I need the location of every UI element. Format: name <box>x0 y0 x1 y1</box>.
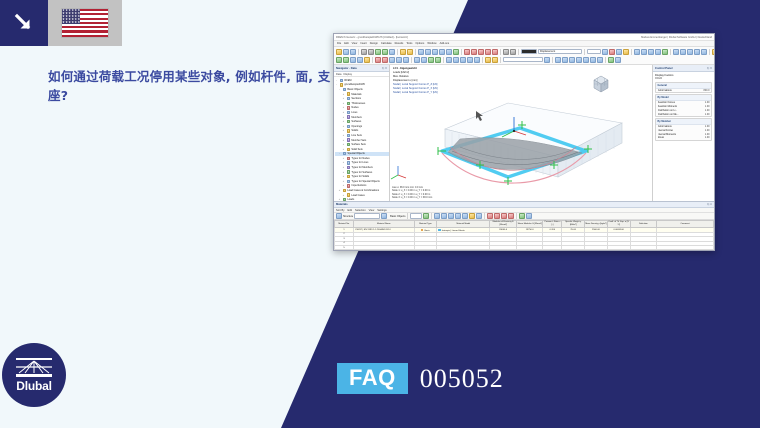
export-icon[interactable] <box>615 57 621 63</box>
control-row-value[interactable]: 1.00 <box>705 133 710 136</box>
tab-display[interactable]: Display <box>343 73 352 76</box>
open-icon[interactable] <box>343 49 349 55</box>
deformation-icon[interactable] <box>435 57 441 63</box>
table-cell[interactable] <box>543 250 562 251</box>
menu-item-calculate[interactable]: Calculate <box>381 42 392 45</box>
navigator-panel[interactable]: Navigator - Data ⎘ ✕ Data Display -RFEM-… <box>334 65 390 201</box>
tree-expander-icon[interactable]: + <box>342 120 345 123</box>
mesh-icon[interactable] <box>414 57 420 63</box>
tree-expander-icon[interactable]: + <box>342 139 345 142</box>
control-row-value[interactable]: 1.00 <box>705 109 710 112</box>
table-grid-icon[interactable] <box>434 213 440 219</box>
structure-tree-icon[interactable] <box>336 213 342 219</box>
tree-item-label: Thicknesses <box>351 102 365 105</box>
table-row[interactable]: 6 <box>335 250 714 251</box>
table-menu-selection[interactable]: Selection <box>355 209 366 212</box>
tree-expander-icon[interactable]: - <box>338 88 341 91</box>
undo-icon[interactable] <box>400 49 406 55</box>
table-paste-icon[interactable] <box>462 213 468 219</box>
faq-footer: FAQ 005052 <box>337 363 504 394</box>
tree-item-icon <box>347 193 350 196</box>
table-column-header[interactable]: Definition <box>630 221 657 228</box>
tree-item-icon <box>347 161 350 164</box>
guide-icon[interactable] <box>701 49 707 55</box>
chart-icon[interactable] <box>648 49 654 55</box>
tree-item-label: Member Sets <box>351 139 366 142</box>
tree-item-icon <box>347 148 350 151</box>
tree-expander-icon[interactable]: + <box>342 171 345 174</box>
transparent-icon[interactable] <box>446 49 452 55</box>
model-geometry <box>390 95 652 201</box>
apply-filter-icon[interactable] <box>423 213 429 219</box>
angle-icon[interactable] <box>510 49 516 55</box>
tree-item-label: Solid Sets <box>351 148 362 151</box>
tree-item-label: Types for Surfaces <box>351 171 372 174</box>
control-row-value[interactable]: 800.0 <box>704 89 710 92</box>
bridge-truss-icon <box>16 358 52 377</box>
language-flag-badge[interactable]: ★★★★★★ ★★★★★★ ★★★★★★ ★★★★★★ ★★★★★★ <box>48 0 122 46</box>
tree-item-icon <box>347 102 350 105</box>
table-export-excel-icon[interactable] <box>469 213 475 219</box>
tree-item-icon <box>347 143 350 146</box>
table-icon[interactable] <box>634 49 640 55</box>
control-row[interactable]: Deformations800.0 <box>656 89 711 93</box>
table-first-icon[interactable] <box>487 213 493 219</box>
tree-item-icon <box>340 83 343 86</box>
table-column-header[interactable]: Mass Density ρ [kg/m³] <box>585 221 608 228</box>
tree-item-label: Surfaces <box>351 120 361 123</box>
tree-item-icon <box>347 97 350 100</box>
tree-item-icon <box>347 166 350 169</box>
control-row-value[interactable]: 1.00 <box>705 129 710 132</box>
info-icon[interactable] <box>662 49 668 55</box>
render-icon[interactable] <box>425 49 431 55</box>
faq-badge: FAQ <box>337 363 408 394</box>
tree-item-label: Loads <box>347 198 354 201</box>
control-row-label: Distribution on Me... <box>658 113 679 116</box>
structural-model-3d[interactable] <box>390 95 652 201</box>
tree-item-label: Line Sets <box>351 134 361 137</box>
menu-item-options[interactable]: Options <box>415 42 424 45</box>
line-icon[interactable] <box>343 57 349 63</box>
report-icon[interactable] <box>608 57 614 63</box>
tree-item-icon <box>347 157 350 160</box>
menu-item-file[interactable]: File <box>337 42 341 45</box>
tree-item-icon <box>347 125 350 128</box>
table-print-icon[interactable] <box>476 213 482 219</box>
tree-item-label: Basic Objects <box>347 88 362 91</box>
tree-item-label: Types for Special Objects <box>351 180 379 183</box>
tree-item-icon <box>347 111 350 114</box>
support-icon[interactable] <box>375 57 381 63</box>
load-icon[interactable] <box>389 57 395 63</box>
app-title: RFEM 6 Generic - grundbeispiel0105.rf6 [… <box>336 36 408 39</box>
faq-number: 005052 <box>420 364 504 394</box>
table-filter-value: Basic Objects <box>390 215 405 218</box>
tree-item-label: Types for Nodes <box>351 157 369 160</box>
table-column-header[interactable]: Material Type <box>414 221 437 228</box>
brand-name: Dlubal <box>16 379 51 393</box>
page-title: 如何通过荷载工况停用某些对象, 例如杆件, 面, 支座? <box>48 68 338 106</box>
zoom-window-icon[interactable] <box>485 49 491 55</box>
isolines-icon[interactable] <box>616 49 622 55</box>
help-icon[interactable] <box>712 49 715 55</box>
tree-expander-icon[interactable]: + <box>342 111 345 114</box>
model-viewport[interactable]: LC1 - EigengewichtLoads [kN/m²]Max. Rela… <box>390 65 652 201</box>
tree-expander-icon[interactable]: + <box>342 184 345 187</box>
tree-item-icon <box>347 106 350 109</box>
filter-icon[interactable] <box>623 49 629 55</box>
table-column-header[interactable]: Specific Weight γ [kN/m³] <box>562 221 585 228</box>
tree-item-label: Openings <box>351 125 362 128</box>
table-cell[interactable] <box>630 250 657 251</box>
control-row-value[interactable]: 1.00 <box>705 101 710 104</box>
tree-expander-icon[interactable]: - <box>338 152 341 155</box>
table-cell[interactable]: 6 <box>335 250 354 251</box>
text-icon[interactable] <box>492 57 498 63</box>
tree-item-icon <box>347 175 350 178</box>
menu-item-tools[interactable]: Tools <box>406 42 412 45</box>
table-column-header[interactable]: Comment <box>657 221 714 228</box>
view-dropdown-icon[interactable] <box>544 57 550 63</box>
control-panel-groups[interactable]: GeneralDeformations800.0By ModelReaction… <box>653 81 714 142</box>
control-row-value[interactable]: 1.00 <box>705 105 710 108</box>
tree-item-label: grundbeispiel0105 <box>344 83 364 86</box>
control-panel-title: Control Panel <box>655 67 672 70</box>
control-row[interactable]: Stress1.00 <box>656 136 711 140</box>
control-group-general: GeneralDeformations800.0 <box>655 82 712 93</box>
tree-expander-icon[interactable]: + <box>342 148 345 151</box>
tree-item-icon <box>347 180 350 183</box>
snap-icon[interactable] <box>673 49 679 55</box>
tree-item-icon <box>347 184 350 187</box>
table-delete-row-icon[interactable] <box>448 213 454 219</box>
table-cell[interactable] <box>437 250 490 251</box>
tree-item-label: Members <box>351 116 361 119</box>
menu-item-addons[interactable]: Add-ons <box>440 42 450 45</box>
print-icon[interactable] <box>361 49 367 55</box>
member-icon[interactable] <box>350 57 356 63</box>
tree-item-icon <box>343 189 346 192</box>
top-view-icon[interactable] <box>590 57 596 63</box>
materials-table-panel[interactable]: Materials ⎘ ✕ Sort By Edit Selection Vie… <box>334 201 714 251</box>
menu-item-design[interactable]: Design <box>370 42 378 45</box>
viewport-result-labels: LC1 - EigengewichtLoads [kN/m²]Max. Rela… <box>393 67 438 95</box>
tree-expander-icon[interactable]: + <box>342 166 345 169</box>
materials-table-title: Materials <box>336 203 348 206</box>
tree-expander-icon[interactable]: + <box>342 116 345 119</box>
materials-table-grid[interactable]: Material No.Material NameMaterial TypeMa… <box>334 220 714 251</box>
tree-expander-icon[interactable]: + <box>342 161 345 164</box>
app-titlebar: RFEM 6 Generic - grundbeispiel0105.rf6 [… <box>334 34 714 41</box>
control-row[interactable]: Distribution on Me...1.00 <box>656 112 711 116</box>
rotate-icon[interactable] <box>453 57 459 63</box>
tree-item-icon <box>347 115 350 118</box>
node-icon[interactable] <box>336 57 342 63</box>
app-account-label: Markus Emmenberger | Dlubal Software Gmb… <box>641 36 712 39</box>
table-cell[interactable] <box>353 250 414 251</box>
control-row-label: Internal Forces <box>658 129 674 132</box>
table-filter-field[interactable] <box>354 213 380 219</box>
toolbar-row-1[interactable]: Displacement <box>336 48 712 55</box>
copy-icon[interactable] <box>382 49 388 55</box>
control-row-label: Deformations <box>658 89 672 92</box>
wireframe-icon[interactable] <box>432 49 438 55</box>
cut-icon[interactable] <box>375 49 381 55</box>
tree-item-icon <box>343 152 346 155</box>
tree-expander-icon[interactable]: + <box>342 125 345 128</box>
layer-icon[interactable] <box>555 57 561 63</box>
calculate-icon[interactable] <box>428 57 434 63</box>
flag-canton: ★★★★★★ ★★★★★★ ★★★★★★ ★★★★★★ ★★★★★★ <box>62 9 80 24</box>
control-row-label: Internal Moments <box>658 133 676 136</box>
tree-item-icon <box>347 138 350 141</box>
table-column-header[interactable]: Material No. <box>335 221 354 228</box>
grid-toggle-icon[interactable] <box>694 49 700 55</box>
tree-expander-icon[interactable]: + <box>342 129 345 132</box>
save-icon[interactable] <box>350 49 356 55</box>
control-row-label: Deformations <box>658 125 672 128</box>
tree-item-label: Solids <box>351 129 358 132</box>
tree-expander-icon[interactable]: + <box>342 106 345 109</box>
mirror-icon[interactable] <box>460 57 466 63</box>
us-flag-icon: ★★★★★★ ★★★★★★ ★★★★★★ ★★★★★★ ★★★★★★ <box>61 8 109 38</box>
tree-expander-icon[interactable]: + <box>338 189 341 192</box>
tree-item-icon <box>347 129 350 132</box>
tree-item-icon <box>340 79 343 82</box>
legend-icon[interactable] <box>655 49 661 55</box>
control-row-value[interactable]: 1.00 <box>705 136 710 139</box>
tree-expander-icon[interactable]: + <box>342 93 345 96</box>
materials-table-toolbar[interactable]: Structure Basic Objects <box>334 213 714 220</box>
tree-item-label: Sections <box>351 97 361 100</box>
scale-field[interactable] <box>587 49 601 55</box>
diagram-icon[interactable] <box>641 49 647 55</box>
table-cell[interactable] <box>562 250 585 251</box>
navigator-header: Navigator - Data ⎘ ✕ <box>334 65 389 72</box>
combination-icon[interactable] <box>403 57 409 63</box>
control-group-by-model: By ModelReaction Forces1.00Reaction Mome… <box>655 94 712 117</box>
tree-item-label: Surface Sets <box>351 143 365 146</box>
table-copy-icon[interactable] <box>455 213 461 219</box>
new-icon[interactable] <box>336 49 342 55</box>
result-combo-value: Displacement <box>540 50 555 53</box>
table-column-header[interactable]: Material Name <box>353 221 414 228</box>
front-view-icon[interactable] <box>583 57 589 63</box>
shaded-icon[interactable] <box>439 49 445 55</box>
redo-icon[interactable] <box>407 49 413 55</box>
table-cell[interactable] <box>585 250 608 251</box>
tree-item-label: Imperfections <box>351 184 366 187</box>
zoom-all-icon[interactable] <box>478 49 484 55</box>
array-icon[interactable] <box>474 57 480 63</box>
navigator-title: Navigator - Data <box>336 67 357 70</box>
app-toolbar[interactable]: Displacement <box>334 47 714 65</box>
tree-expander-icon[interactable]: + <box>342 97 345 100</box>
app-body: Navigator - Data ⎘ ✕ Data Display -RFEM-… <box>334 65 714 201</box>
arrow-down-right-badge <box>0 0 48 46</box>
tree-item-label: Types for Solids <box>351 175 369 178</box>
tree-item-label: Types for Lines <box>351 161 368 164</box>
tree-item-icon <box>347 92 350 95</box>
tree-item-loads[interactable]: +Loads <box>335 197 389 201</box>
control-panel-close-icon[interactable]: ⎘ ✕ <box>707 67 712 70</box>
dimension-icon[interactable] <box>485 57 491 63</box>
menu-item-edit[interactable]: Edit <box>344 42 348 45</box>
zoom-in-icon[interactable] <box>464 49 470 55</box>
ortho-icon[interactable] <box>680 49 686 55</box>
tree-expander-icon[interactable]: + <box>342 180 345 183</box>
chevron-down-icon[interactable] <box>602 49 608 55</box>
table-menu-view[interactable]: View <box>369 209 375 212</box>
control-row-value[interactable]: 1.00 <box>705 113 710 116</box>
materials-table-body[interactable]: 1C30/37 | EN 1992-1-1:2004/A1:2014BasicI… <box>335 228 714 251</box>
tree-item-label: Load Cases & Combinations <box>347 189 379 192</box>
control-panel[interactable]: Control Panel ⎘ ✕ Display Factors RFEM G… <box>652 65 714 201</box>
hinge-icon[interactable] <box>382 57 388 63</box>
table-next-icon[interactable] <box>501 213 507 219</box>
tree-item-label: Nodes <box>351 106 358 109</box>
zoom-out-icon[interactable] <box>471 49 477 55</box>
menu-item-window[interactable]: Window <box>427 42 436 45</box>
tree-item-icon <box>347 120 350 123</box>
tree-item-label: Lines <box>351 111 357 114</box>
rfem-application-screenshot: RFEM 6 Generic - grundbeispiel0105.rf6 [… <box>333 33 715 251</box>
view-combo-field[interactable] <box>503 57 543 63</box>
tree-item-icon <box>343 88 346 91</box>
table-help-icon[interactable] <box>526 213 532 219</box>
clip-icon[interactable] <box>569 57 575 63</box>
tree-expander-icon[interactable]: + <box>342 175 345 178</box>
menu-item-insert[interactable]: Insert <box>360 42 367 45</box>
table-cell[interactable] <box>490 250 517 251</box>
table-column-header[interactable]: Poisson's Ratio ν [-] <box>543 221 562 228</box>
table-menu-sort-by[interactable]: Sort By <box>336 209 345 212</box>
section-icon[interactable] <box>453 49 459 55</box>
table-column-header[interactable]: Shear Modulus G [N/mm²] <box>516 221 543 228</box>
tree-item-icon <box>343 198 346 201</box>
panel-pin-icon[interactable]: ⎘ ✕ <box>382 67 387 70</box>
materials-table-close-icon[interactable]: ⎘ ✕ <box>707 203 712 206</box>
table-prev-icon[interactable] <box>494 213 500 219</box>
table-last-icon[interactable] <box>508 213 514 219</box>
table-column-header[interactable]: Modulus of Elasticity E [N/mm²] <box>490 221 517 228</box>
table-cell[interactable] <box>414 250 437 251</box>
tree-expander-icon[interactable]: + <box>342 102 345 105</box>
control-row-value[interactable]: 1.00 <box>705 125 710 128</box>
tree-expander-icon[interactable]: + <box>342 157 345 160</box>
control-row-label: Distribution on Li... <box>658 109 678 112</box>
solid-icon[interactable] <box>364 57 370 63</box>
results-on-icon[interactable] <box>609 49 615 55</box>
viewport-readout: max u: 38.0 mm min: 0.0 mmNode 1: u_X = … <box>392 186 432 199</box>
table-settings-icon[interactable] <box>519 213 525 219</box>
toolbar-row-2[interactable] <box>336 56 712 63</box>
table-menu-settings[interactable]: Settings <box>377 209 386 212</box>
table-column-header[interactable]: Material Model <box>437 221 490 228</box>
scale-icon[interactable] <box>467 57 473 63</box>
paste-icon[interactable] <box>389 49 395 55</box>
table-cell[interactable] <box>657 250 714 251</box>
dlubal-logo: Dlubal <box>2 343 66 407</box>
move-icon[interactable] <box>446 57 452 63</box>
table-menu-edit[interactable]: Edit <box>348 209 352 212</box>
menu-item-results[interactable]: Results <box>395 42 404 45</box>
tree-item-label: Load Cases <box>351 194 364 197</box>
isometric-view-icon[interactable] <box>576 57 582 63</box>
pan-icon[interactable] <box>492 49 498 55</box>
tree-expander-icon[interactable]: + <box>342 194 345 197</box>
materials-table-header-row: Material No.Material NameMaterial TypeMa… <box>335 221 714 228</box>
control-row-label: Reaction Moments <box>658 105 678 108</box>
tree-item-icon <box>347 170 350 173</box>
tree-item-label: Special Objects <box>347 152 364 155</box>
control-row-label: Stress <box>658 136 665 139</box>
tree-item-label: RFEM <box>344 79 351 82</box>
viewport-readout-line: Node 3: u_X = 0.00 m u_Y = 38.0 mm <box>392 196 432 199</box>
row-jump-field[interactable] <box>410 213 422 219</box>
navigation-cube-icon[interactable] <box>590 73 612 95</box>
table-column-header[interactable]: Coeff. of Th. Exp. α [1/°C] <box>607 221 630 228</box>
measure-icon[interactable] <box>503 49 509 55</box>
print-preview-icon[interactable] <box>368 49 374 55</box>
tree-expander-icon[interactable]: + <box>338 198 341 201</box>
arrow-down-right-icon <box>13 12 35 34</box>
control-panel-header: Control Panel ⎘ ✕ <box>653 65 714 72</box>
tree-item-label: Materials <box>351 93 361 96</box>
control-row-label: Reaction Forces <box>658 101 675 104</box>
faq-slide: ★★★★★★ ★★★★★★ ★★★★★★ ★★★★★★ ★★★★★★ 如何通过荷… <box>0 0 760 428</box>
load-case-icon[interactable] <box>396 57 402 63</box>
visibility-icon[interactable] <box>562 57 568 63</box>
tree-expander-icon[interactable]: + <box>342 143 345 146</box>
fe-mesh-icon[interactable] <box>421 57 427 63</box>
filter-dropdown-icon[interactable] <box>381 213 387 219</box>
tree-item-icon <box>347 134 350 137</box>
control-group-by-member: By MemberDeformations1.00Internal Forces… <box>655 118 712 141</box>
table-cell[interactable] <box>516 250 543 251</box>
materials-table[interactable]: Material No.Material NameMaterial TypeMa… <box>334 220 714 251</box>
navigator-tree[interactable]: -RFEM-grundbeispiel0105-Basic Objects+Ma… <box>334 77 389 201</box>
color-preview-field[interactable] <box>521 49 537 55</box>
menu-item-view[interactable]: View <box>352 42 358 45</box>
table-cell[interactable] <box>607 250 630 251</box>
view-grid-icon[interactable] <box>418 49 424 55</box>
table-insert-row-icon[interactable] <box>441 213 447 219</box>
tree-item-label: Types for Members <box>351 166 372 169</box>
tree-expander-icon[interactable]: + <box>342 134 345 137</box>
table-filter-label: Structure <box>343 215 353 218</box>
osnap-icon[interactable] <box>687 49 693 55</box>
side-view-icon[interactable] <box>597 57 603 63</box>
surface-icon[interactable] <box>357 57 363 63</box>
